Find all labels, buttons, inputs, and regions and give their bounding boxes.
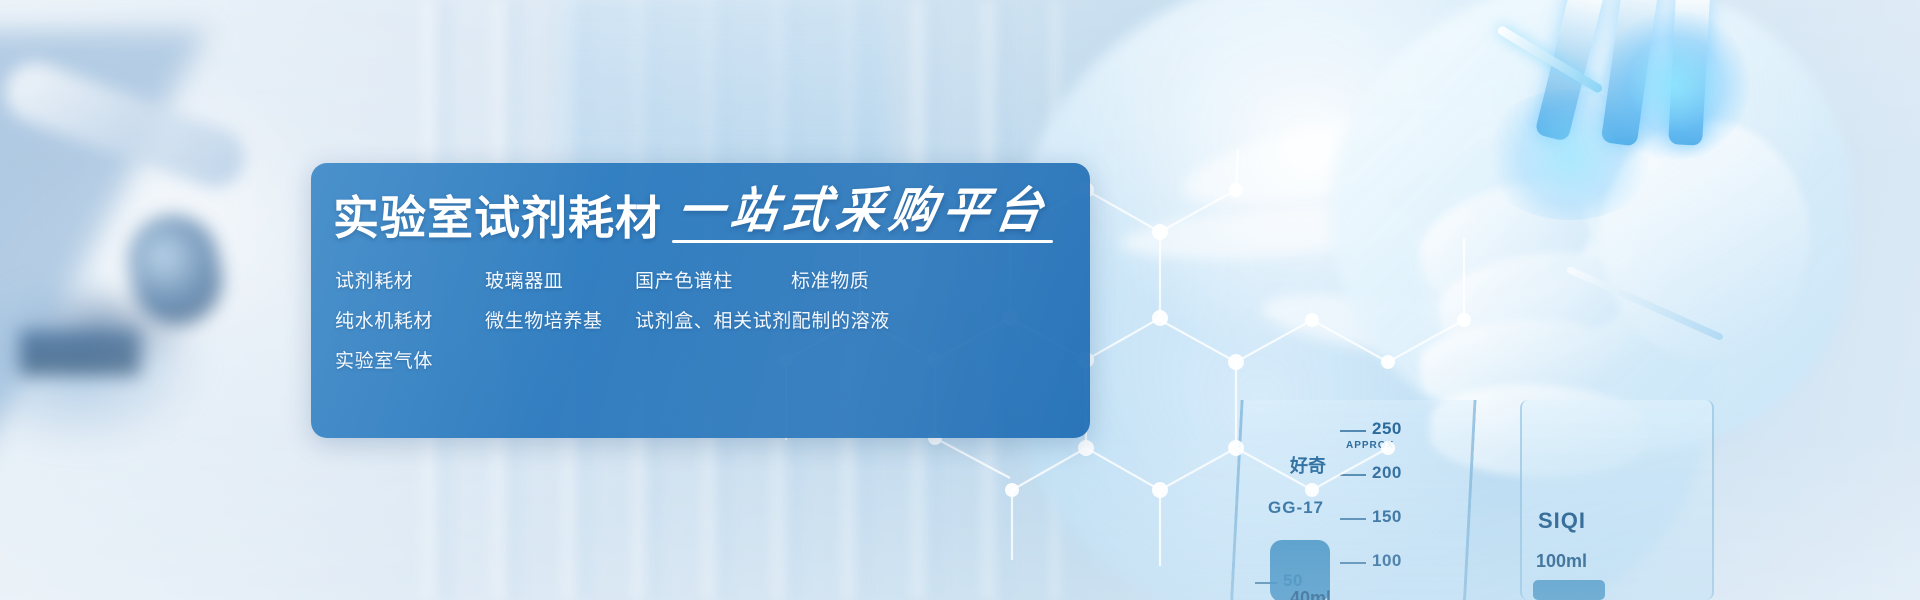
bottle-volume-label: 100ml xyxy=(1536,551,1587,572)
lab-coat-technician xyxy=(1010,0,1710,600)
category-link-reference-materials[interactable]: 标准物质 xyxy=(791,268,869,294)
gloved-hand-upper xyxy=(1330,0,1850,450)
graduation-200: 200 xyxy=(1372,463,1402,483)
category-link-laboratory-gases[interactable]: 实验室气体 xyxy=(335,348,485,374)
approx-label: APPROX xyxy=(1346,440,1394,451)
headline-brush-wrap: 一站式采购平台 xyxy=(678,187,1049,241)
tube-glow xyxy=(1480,90,1660,220)
graduation-tick xyxy=(1340,474,1366,476)
bottle-liquid xyxy=(1533,580,1605,600)
graduation-150: 150 xyxy=(1372,507,1402,527)
category-row: 纯水机耗材 微生物培养基 试剂盒、相关试剂配制的溶液 xyxy=(335,308,1075,334)
reagent-bottle xyxy=(1520,400,1714,600)
graduation-tick xyxy=(1340,518,1366,520)
category-link-reagent-kits-solutions[interactable]: 试剂盒、相关试剂配制的溶液 xyxy=(635,308,890,334)
category-link-reagent-consumables[interactable]: 试剂耗材 xyxy=(335,268,485,294)
category-link-water-purifier-consumables[interactable]: 纯水机耗材 xyxy=(335,308,485,334)
category-link-list: 试剂耗材 玻璃器皿 国产色谱柱 标准物质 纯水机耗材 微生物培养基 试剂盒、相关… xyxy=(335,268,1075,374)
microscope-stage-blur xyxy=(20,330,140,375)
graduation-50: 50 xyxy=(1283,571,1303,591)
graduation-tick xyxy=(1340,562,1366,564)
gown-fold xyxy=(1176,86,1513,223)
headline-main-text: 实验室试剂耗材 xyxy=(333,195,662,241)
finger xyxy=(1428,381,1646,480)
beaker xyxy=(1229,400,1476,600)
category-link-microbial-culture-media[interactable]: 微生物培养基 xyxy=(485,308,635,334)
glass-code-label: GG-17 xyxy=(1268,498,1324,518)
promo-panel: 实验室试剂耗材 一站式采购平台 试剂耗材 玻璃器皿 国产色谱柱 标准物质 纯水机… xyxy=(311,163,1090,438)
beaker-volume-label: 40ml xyxy=(1290,588,1331,600)
gown-fold xyxy=(1258,282,1523,370)
stirring-rod xyxy=(1566,266,1724,342)
category-row: 实验室气体 xyxy=(335,348,1075,374)
pipette xyxy=(1496,25,1603,95)
left-glass-tube-blur xyxy=(0,54,253,196)
graduation-250: 250 xyxy=(1372,419,1402,439)
headline: 实验室试剂耗材 一站式采购平台 xyxy=(333,187,1049,241)
gown-fold xyxy=(1119,200,1421,267)
graduation-tick xyxy=(1255,582,1277,584)
test-tube xyxy=(1601,0,1660,147)
category-link-domestic-chromatography-column[interactable]: 国产色谱柱 xyxy=(635,268,791,294)
headline-underline xyxy=(672,240,1053,243)
tube-glow xyxy=(1600,10,1750,160)
category-row: 试剂耗材 玻璃器皿 国产色谱柱 标准物质 xyxy=(335,268,1075,294)
graduation-100: 100 xyxy=(1372,551,1402,571)
bottle-brand-label: SIQI xyxy=(1538,508,1586,534)
test-tube xyxy=(1668,0,1710,146)
finger xyxy=(1408,166,1602,318)
microscope-knob-blur xyxy=(120,207,231,333)
finger xyxy=(1433,240,1632,366)
category-link-glassware[interactable]: 玻璃器皿 xyxy=(485,268,635,294)
palm xyxy=(1600,120,1810,360)
test-tube xyxy=(1534,0,1603,142)
beaker-liquid xyxy=(1270,540,1330,600)
finger xyxy=(1417,313,1623,417)
headline-brush-text: 一站式采购平台 xyxy=(674,186,1053,235)
lab-supplies-banner: 250 APPROX 200 150 100 50 GG-17 好奇 40ml … xyxy=(0,0,1920,600)
beaker-brand-label: 好奇 xyxy=(1290,452,1326,478)
graduation-tick xyxy=(1340,430,1366,432)
